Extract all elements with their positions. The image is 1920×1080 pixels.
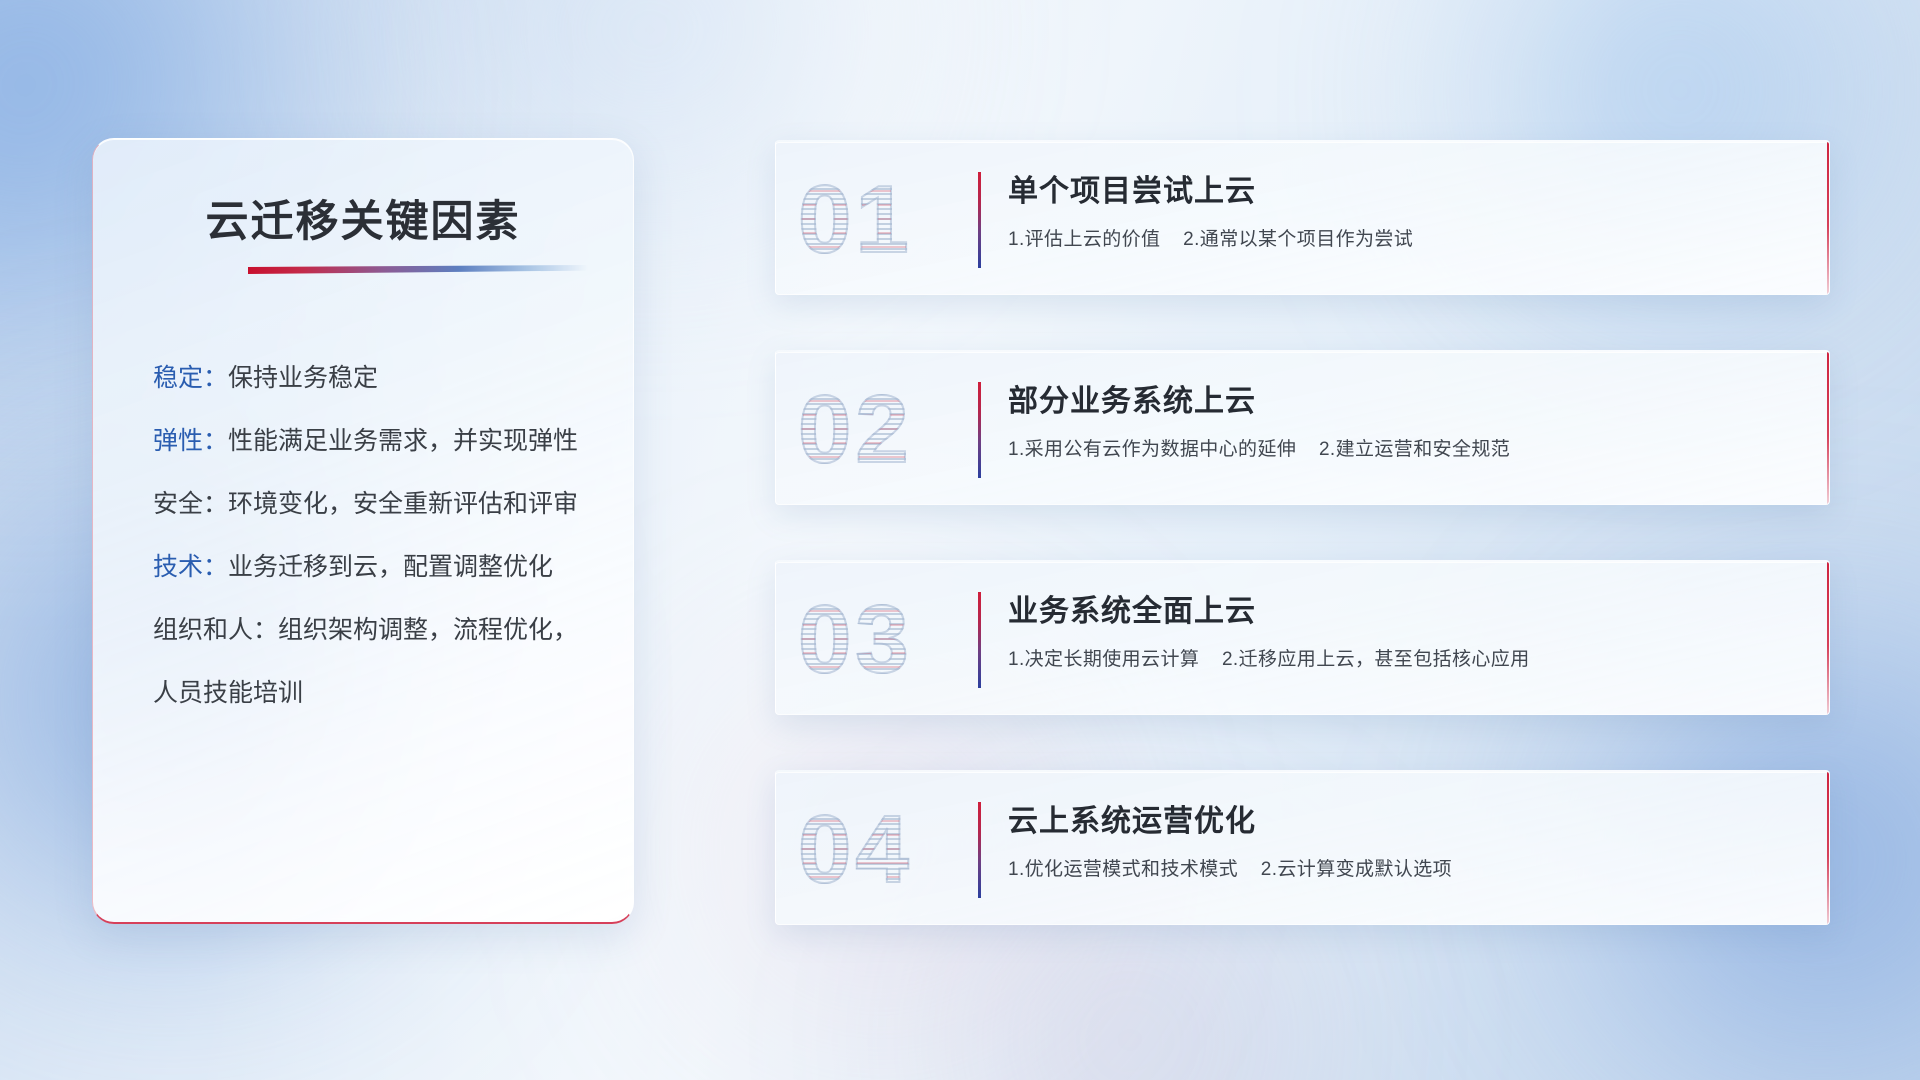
step-title: 业务系统全面上云 [1008,586,1256,630]
factor-value: 人员技能培训 [153,679,303,707]
step-number-01: 01 [798,150,978,290]
step-number-04: 04 [798,780,978,920]
list-item: 组织和人：组织架构调整，流程优化， [153,599,597,662]
factor-label: 安全： [153,490,228,518]
step-title: 单个项目尝试上云 [1008,166,1256,210]
step-divider [978,802,981,898]
page-title: 云迁移关键因素 [93,187,633,249]
key-factors-card: 云迁移关键因素 稳定：保持业务稳定 弹性：性能满足业务需求，并实现弹性 安全：环… [92,138,634,924]
list-item: 人员技能培训 [153,662,597,725]
factor-value: 环境变化，安全重新评估和评审 [228,490,578,518]
step-card-01[interactable]: 01 01 单个项目尝试上云 1.评估上云的价值 2.通常以某个项目作为尝试 [775,140,1830,295]
step-divider [978,172,981,268]
factor-label: 稳定： [153,364,228,392]
factor-label: 技术： [153,553,228,581]
factor-value: 保持业务稳定 [228,364,378,392]
step-title: 云上系统运营优化 [1008,796,1256,840]
step-card-02[interactable]: 02 02 部分业务系统上云 1.采用公有云作为数据中心的延伸 2.建立运营和安… [775,350,1830,505]
list-item: 安全：环境变化，安全重新评估和评审 [153,473,597,536]
step-description: 1.优化运营模式和技术模式 2.云计算变成默认选项 [1008,854,1452,881]
step-description: 1.决定长期使用云计算 2.迁移应用上云，甚至包括核心应用 [1008,644,1530,671]
factor-value: 性能满足业务需求，并实现弹性 [228,427,578,455]
list-item: 技术：业务迁移到云，配置调整优化 [153,536,597,599]
title-underline-accent [248,265,588,274]
step-number-02: 02 [798,360,978,500]
key-factors-list: 稳定：保持业务稳定 弹性：性能满足业务需求，并实现弹性 安全：环境变化，安全重新… [153,347,597,725]
step-description: 1.采用公有云作为数据中心的延伸 2.建立运营和安全规范 [1008,434,1510,461]
step-description: 1.评估上云的价值 2.通常以某个项目作为尝试 [1008,224,1413,251]
slide-content: 云迁移关键因素 稳定：保持业务稳定 弹性：性能满足业务需求，并实现弹性 安全：环… [0,0,1920,1080]
list-item: 稳定：保持业务稳定 [153,347,597,410]
step-title: 部分业务系统上云 [1008,376,1256,420]
list-item: 弹性：性能满足业务需求，并实现弹性 [153,410,597,473]
factor-label: 组织和人： [153,616,278,644]
step-card-04[interactable]: 04 04 云上系统运营优化 1.优化运营模式和技术模式 2.云计算变成默认选项 [775,770,1830,925]
step-card-03[interactable]: 03 03 业务系统全面上云 1.决定长期使用云计算 2.迁移应用上云，甚至包括… [775,560,1830,715]
factor-label: 弹性： [153,427,228,455]
step-divider [978,592,981,688]
factor-value: 组织架构调整，流程优化， [278,616,578,644]
factor-value: 业务迁移到云，配置调整优化 [228,553,553,581]
step-number-03: 03 [798,570,978,710]
step-divider [978,382,981,478]
